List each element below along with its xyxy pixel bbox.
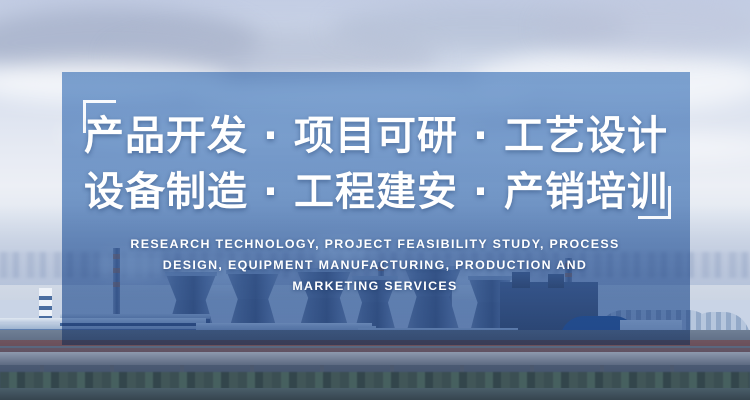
foreground-strip (0, 388, 750, 400)
subtitle-line-1: RESEARCH TECHNOLOGY, PROJECT FEASIBILITY… (125, 234, 625, 255)
subtitle-line-2: DESIGN, EQUIPMENT MANUFACTURING, PRODUCT… (125, 255, 625, 276)
headline-line-1: 产品开发 · 项目可研 · 工艺设计 (62, 108, 690, 164)
hero-banner: 产品开发 · 项目可研 · 工艺设计 设备制造 · 工程建安 · 产销培训 RE… (0, 0, 750, 400)
headline-line-2: 设备制造 · 工程建安 · 产销培训 (62, 164, 690, 220)
headline-block: 产品开发 · 项目可研 · 工艺设计 设备制造 · 工程建安 · 产销培训 (62, 108, 690, 220)
subtitle-block: RESEARCH TECHNOLOGY, PROJECT FEASIBILITY… (125, 234, 625, 297)
elevated-roadway (0, 352, 750, 365)
subtitle-line-3: MARKETING SERVICES (125, 276, 625, 297)
